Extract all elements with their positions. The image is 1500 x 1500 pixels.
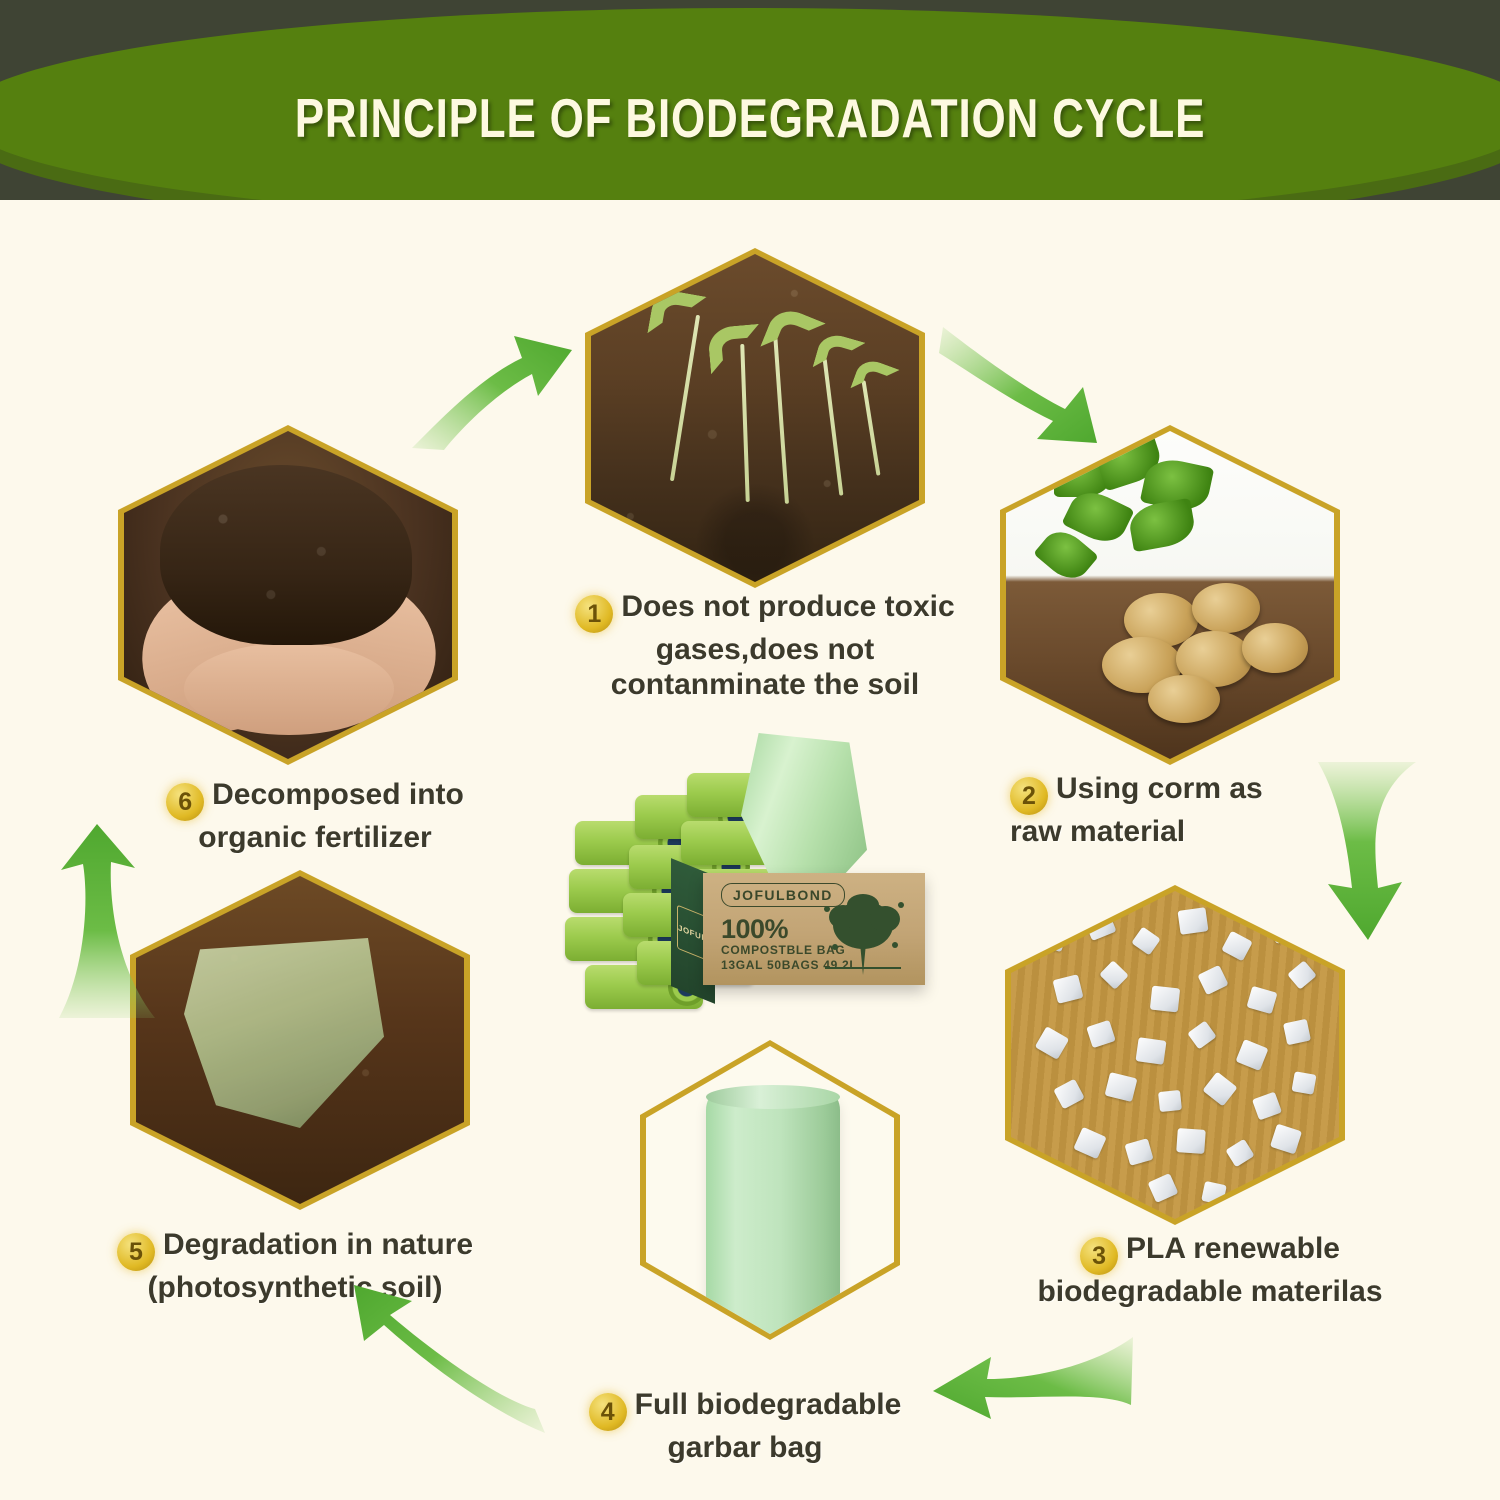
step-1-label: 1Does not produce toxic gases,does not c… <box>530 590 1000 703</box>
arrow-1-to-2 <box>925 325 1125 475</box>
step-6-label: 6Decomposed into organic fertilizer <box>115 778 515 856</box>
hex-step-5[interactable] <box>130 870 470 1210</box>
hex-step-1[interactable] <box>585 248 925 588</box>
step-2-label: 2Using corm as raw material <box>1010 772 1340 850</box>
hand-icon <box>184 643 394 735</box>
hex-step-4[interactable] <box>640 1040 900 1340</box>
hex-step-3[interactable] <box>1005 885 1345 1225</box>
pellet-icon <box>1176 1128 1206 1154</box>
carton-percent: 100% <box>721 914 788 945</box>
wood-background <box>1011 891 1339 1219</box>
hex-step-6[interactable] <box>118 425 458 765</box>
carton-box: JOFULBOND 100% COMPOSTBLE BAG 13GAL 50BA… <box>703 873 925 985</box>
step-2-text: Using corm as raw material <box>1010 772 1263 848</box>
step-2-badge: 2 <box>1010 777 1048 815</box>
hex-image-hands-holding-compost <box>124 431 452 759</box>
pellet-icon <box>1135 1037 1166 1065</box>
hex-image-degrading-bag-fragment <box>136 876 464 1204</box>
step-6-text: Decomposed into organic fertilizer <box>198 778 464 854</box>
arrow-5-to-6 <box>55 820 175 1020</box>
step-3-label: 3PLA renewable biodegradable materilas <box>995 1232 1425 1310</box>
compost-soil-icon <box>160 465 412 645</box>
potato-icon <box>1148 675 1220 723</box>
pellet-icon <box>1177 907 1208 935</box>
green-bag-roll-icon <box>706 1094 840 1334</box>
hex-image-potato-plant-harvest <box>1006 431 1334 759</box>
arrow-6-to-1 <box>410 300 610 450</box>
step-3-badge: 3 <box>1080 1237 1118 1275</box>
hex-image-green-bag-roll <box>646 1046 894 1334</box>
step-1-badge: 1 <box>575 595 613 633</box>
pellet-icon <box>1291 1071 1316 1095</box>
step-6-badge: 6 <box>166 783 204 821</box>
potato-icon <box>1242 623 1308 673</box>
arrow-3-to-4 <box>925 1335 1135 1455</box>
product-photo-group: JOFULBOND JOFULBOND 100% COMPOSTBLE BAG … <box>565 725 945 1045</box>
arrow-2-to-3 <box>1310 760 1430 945</box>
page-title: PRINCIPLE OF BIODEGRADATION CYCLE <box>150 86 1350 150</box>
open-green-bag-icon <box>741 733 867 891</box>
arrow-4-to-5 <box>320 1275 550 1435</box>
hex-image-pla-resin-pellets <box>1011 891 1339 1219</box>
potato-icon <box>1192 583 1260 633</box>
step-4-label: 4Full biodegradable garbar bag <box>545 1388 945 1466</box>
infographic-canvas: PRINCIPLE OF BIODEGRADATION CYCLE <box>0 0 1500 1500</box>
step-1-text: Does not produce toxic gases,does not co… <box>611 590 955 701</box>
tree-icon <box>815 887 911 975</box>
hex-step-2[interactable] <box>1000 425 1340 765</box>
step-4-text: Full biodegradable garbar bag <box>635 1388 902 1464</box>
header-band: PRINCIPLE OF BIODEGRADATION CYCLE <box>0 0 1500 200</box>
hex-image-seedlings-in-soil <box>591 254 919 582</box>
pellet-icon <box>1158 1090 1182 1112</box>
pellet-icon <box>1150 986 1180 1013</box>
step-4-badge: 4 <box>589 1393 627 1431</box>
step-5-badge: 5 <box>117 1233 155 1271</box>
